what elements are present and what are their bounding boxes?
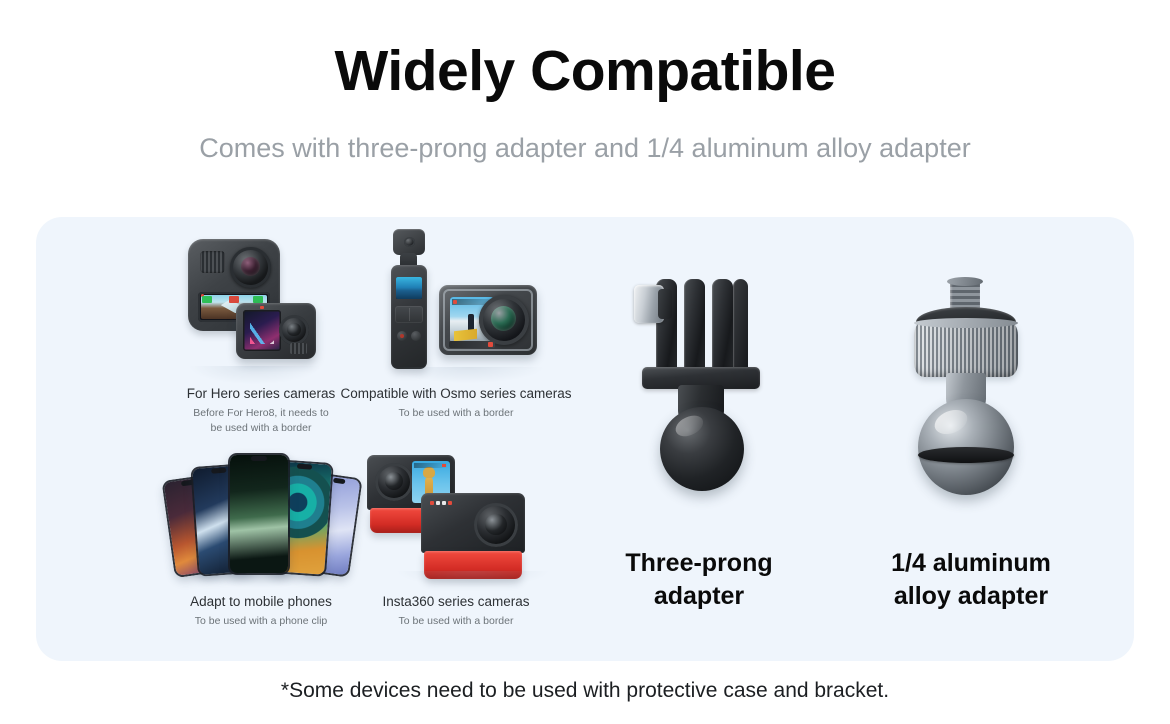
product-label-line-2: adapter [574,580,824,613]
compat-note: To be used with a border [311,406,601,421]
camera-lens-icon [375,463,413,501]
speaker-grille-icon [200,251,225,273]
product-label-line-1: 1/4 aluminum [846,547,1096,580]
thumbscrew-icon [634,285,664,323]
product-label-line-2: alloy adapter [846,580,1096,613]
infographic-page: Widely Compatible Comes with three-prong… [0,0,1170,724]
record-button-icon [397,331,407,341]
touch-panel [395,306,423,323]
knurled-collar [914,321,1018,377]
screen-photo [396,288,422,299]
compat-note: To be used with a border [311,614,601,629]
prong [684,279,705,371]
insta360-logo [430,501,452,505]
compat-note-line-2: be used with a border [116,421,406,436]
reflection [190,366,320,384]
insta360-camera-front [421,493,525,579]
product-three-prong-adapter: Three-prong adapter [574,257,824,613]
screen-badge [253,296,263,303]
insta360-group [363,451,553,583]
logo-dot [448,501,452,505]
compatibility-panel: For Hero series cameras Before For Hero8… [36,217,1134,661]
prong [733,279,748,371]
aluminum-adapter-illustration [888,277,1058,527]
gopro-hero-camera [236,303,316,359]
screen-badge [229,296,239,303]
o-ring [918,447,1014,463]
prong [712,279,733,371]
compat-caption: Compatible with Osmo series cameras [311,385,601,403]
compat-item-osmo-cameras: Compatible with Osmo series cameras To b… [311,225,601,421]
camera-label-strip [449,341,495,348]
camera-lens-icon [474,503,518,547]
camera-lens-icon [479,295,529,345]
osmo-pocket-gimbal [391,229,427,369]
notch-icon [211,468,226,474]
gimbal-screen [396,277,422,299]
page-subtitle: Comes with three-prong adapter and 1/4 a… [0,132,1170,164]
product-label: Three-prong adapter [574,547,824,613]
reflection [393,367,543,383]
gimbal-body [391,265,427,369]
three-prong-adapter-image [574,257,824,547]
osmo-action-camera [439,285,537,355]
screen-status-bar [414,463,448,468]
phone [228,453,290,575]
logo-dot [430,501,434,505]
ball-joint [660,407,744,491]
phone-fan [166,453,356,581]
three-prong-adapter-illustration [616,267,786,517]
page-title: Widely Compatible [0,40,1170,104]
record-dot-icon [260,306,264,309]
record-dot-icon [453,300,457,304]
screen-badge [202,296,212,303]
notch-icon [297,464,312,470]
logo-dot [442,501,446,505]
camera-lens-icon [279,315,309,345]
dji-osmo-cameras-image [311,225,601,385]
logo-dot [436,501,440,505]
notch-icon [251,456,267,461]
power-button-icon [411,331,421,341]
gimbal-head-icon [393,229,425,255]
product-label: 1/4 aluminum alloy adapter [846,547,1096,613]
product-aluminum-alloy-adapter: 1/4 aluminum alloy adapter [846,257,1096,613]
camera-screen [243,310,281,351]
footnote: *Some devices need to be used with prote… [0,678,1170,704]
battery-base [424,551,522,579]
phone-screen [230,455,288,573]
product-label-line-1: Three-prong [574,547,824,580]
aluminum-alloy-adapter-image [846,257,1096,547]
camera-lens-icon [230,247,271,288]
compat-caption: Insta360 series cameras [311,593,601,611]
speaker-grille-icon [290,343,307,354]
